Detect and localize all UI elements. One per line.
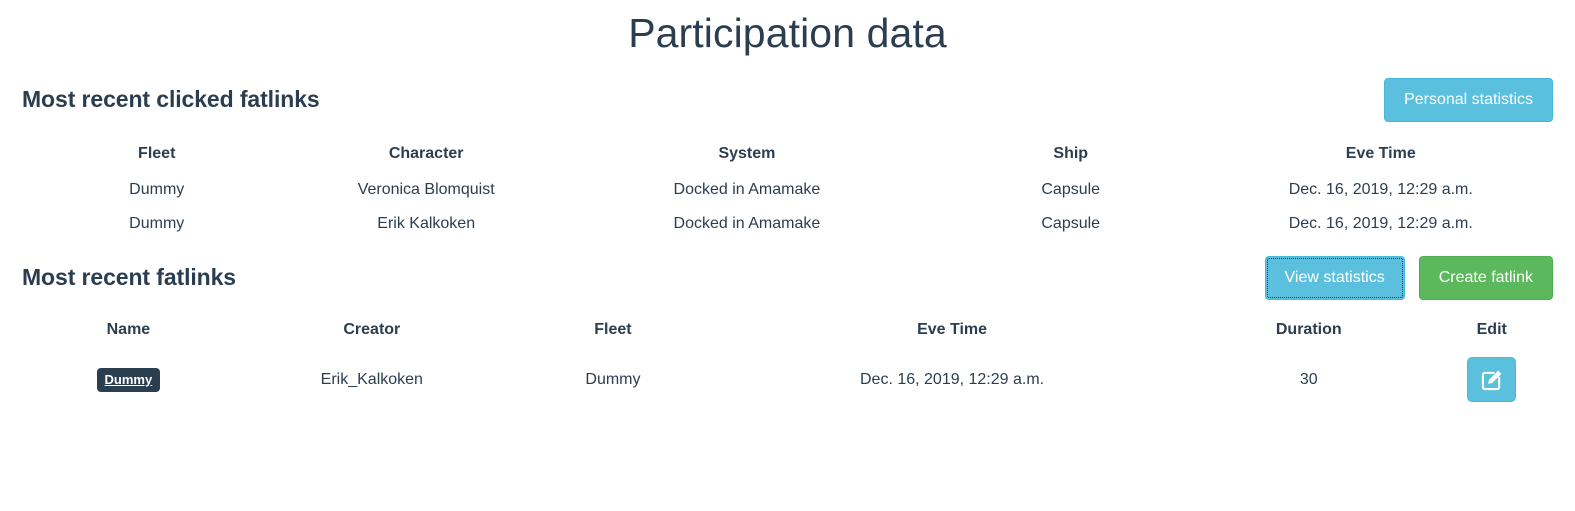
- clicked-fatlinks-table-wrapper: Fleet Character System Ship Eve Time Dum…: [22, 135, 1553, 241]
- edit-pencil-square-icon: [1481, 369, 1503, 391]
- column-header-creator: Creator: [235, 311, 509, 349]
- cell-character: Veronica Blomquist: [291, 173, 560, 207]
- fatlink-name-badge-label: Dummy: [105, 372, 153, 387]
- column-header-edit: Edit: [1430, 311, 1553, 349]
- cell-character: Erik Kalkoken: [291, 207, 560, 241]
- fatlinks-table-wrapper: Name Creator Fleet Eve Time Duration Edi…: [22, 311, 1553, 410]
- table-row: Dummy Erik Kalkoken Docked in Amamake Ca…: [22, 207, 1553, 241]
- cell-name: Dummy: [22, 349, 235, 410]
- view-statistics-button[interactable]: View statistics: [1265, 256, 1405, 300]
- cell-ship: Capsule: [933, 207, 1209, 241]
- column-header-eve-time: Eve Time: [1209, 135, 1553, 173]
- clicked-fatlinks-table: Fleet Character System Ship Eve Time Dum…: [22, 135, 1553, 241]
- column-header-eve-time: Eve Time: [717, 311, 1187, 349]
- cell-system: Docked in Amamake: [561, 173, 933, 207]
- edit-fatlink-button[interactable]: [1467, 357, 1516, 402]
- cell-eve-time: Dec. 16, 2019, 12:29 a.m.: [1209, 207, 1553, 241]
- table-header-row: Fleet Character System Ship Eve Time: [22, 135, 1553, 173]
- participation-data-page: Participation data Most recent clicked f…: [0, 0, 1575, 511]
- column-header-ship: Ship: [933, 135, 1209, 173]
- column-header-system: System: [561, 135, 933, 173]
- table-row: Dummy Veronica Blomquist Docked in Amama…: [22, 173, 1553, 207]
- section-actions-fatlinks: View statistics Create fatlink: [1265, 256, 1553, 300]
- section-title-clicked-fatlinks: Most recent clicked fatlinks: [22, 86, 320, 114]
- column-header-name: Name: [22, 311, 235, 349]
- section-header-clicked-fatlinks: Most recent clicked fatlinks Personal st…: [22, 77, 1553, 123]
- section-actions-clicked-fatlinks: Personal statistics: [1384, 78, 1553, 122]
- cell-creator: Erik_Kalkoken: [235, 349, 509, 410]
- column-header-fleet: Fleet: [509, 311, 717, 349]
- cell-fleet: Dummy: [509, 349, 717, 410]
- column-header-character: Character: [291, 135, 560, 173]
- page-title: Participation data: [22, 0, 1553, 59]
- fatlink-name-badge-link[interactable]: Dummy: [97, 368, 161, 392]
- cell-eve-time: Dec. 16, 2019, 12:29 a.m.: [717, 349, 1187, 410]
- table-header-row: Name Creator Fleet Eve Time Duration Edi…: [22, 311, 1553, 349]
- column-header-fleet: Fleet: [22, 135, 291, 173]
- table-row: Dummy Erik_Kalkoken Dummy Dec. 16, 2019,…: [22, 349, 1553, 410]
- personal-statistics-button[interactable]: Personal statistics: [1384, 78, 1553, 122]
- cell-ship: Capsule: [933, 173, 1209, 207]
- cell-edit: [1430, 349, 1553, 410]
- section-header-fatlinks: Most recent fatlinks View statistics Cre…: [22, 255, 1553, 301]
- fatlinks-table: Name Creator Fleet Eve Time Duration Edi…: [22, 311, 1553, 410]
- cell-eve-time: Dec. 16, 2019, 12:29 a.m.: [1209, 173, 1553, 207]
- create-fatlink-button[interactable]: Create fatlink: [1419, 256, 1553, 300]
- cell-fleet: Dummy: [22, 207, 291, 241]
- section-title-fatlinks: Most recent fatlinks: [22, 264, 236, 292]
- cell-fleet: Dummy: [22, 173, 291, 207]
- cell-system: Docked in Amamake: [561, 207, 933, 241]
- cell-duration: 30: [1187, 349, 1430, 410]
- column-header-duration: Duration: [1187, 311, 1430, 349]
